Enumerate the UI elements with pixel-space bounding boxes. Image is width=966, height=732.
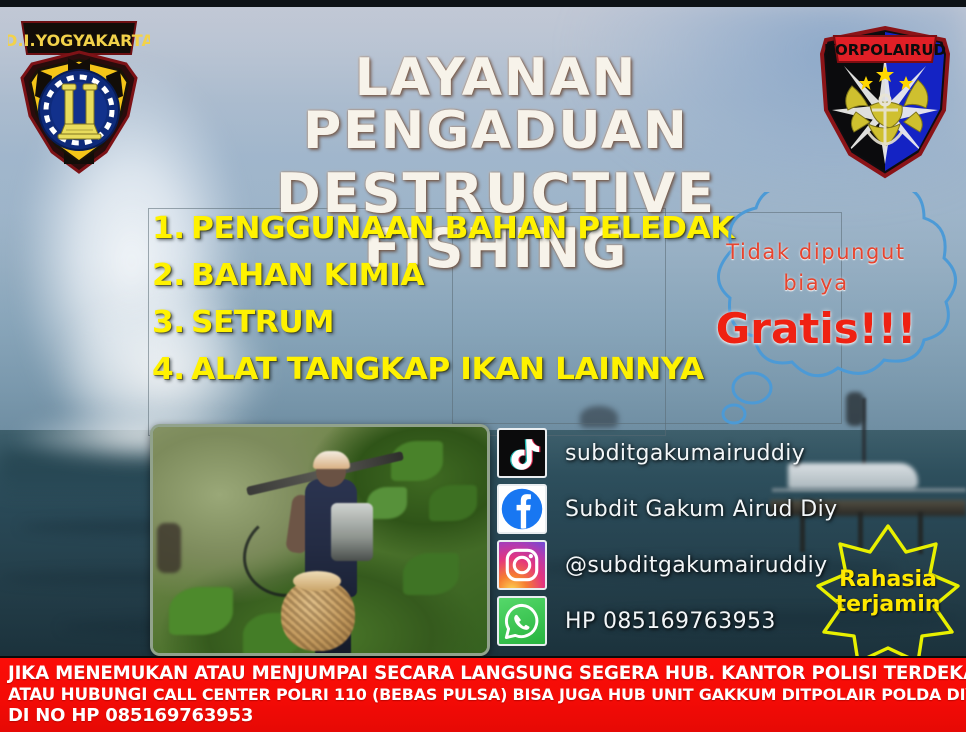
- facebook-icon[interactable]: [497, 484, 547, 534]
- electrofishing-photo: [150, 424, 490, 656]
- tiktok-icon[interactable]: [497, 428, 547, 478]
- emergency-contact-banner: JIKA MENEMUKAN ATAU MENJUMPAI SECARA LAN…: [0, 656, 966, 732]
- whatsapp-phone: HP 085169763953: [565, 609, 776, 634]
- cloud-line-1: Tidak dipungut: [726, 237, 905, 267]
- banner-line-2-prefix: ATAU HUBUNGI: [8, 685, 153, 705]
- top-edge-strip: [0, 0, 966, 7]
- photo-second-person: [157, 523, 181, 573]
- instagram-handle: @subditgakumairuddiy: [565, 553, 828, 578]
- violations-list: 1.PENGGUNAAN BAHAN PELEDAK 2.BAHAN KIMIA…: [152, 214, 672, 402]
- violation-label-2: BAHAN KIMIA: [191, 258, 424, 293]
- cloud-text-block: Tidak dipungut biaya Gratis!!!: [664, 192, 966, 392]
- diy-logo-banner-text: D.I.YOGYAKARTA: [8, 31, 150, 50]
- photo-backpack-generator: [331, 503, 373, 561]
- violation-item-3: 3.SETRUM: [152, 308, 693, 338]
- violation-number-1: 1.: [152, 211, 185, 246]
- facebook-handle: Subdit Gakum Airud Diy: [565, 497, 838, 522]
- violation-number-2: 2.: [152, 258, 185, 293]
- poster-root: D.I.YOGYAKARTA: [0, 0, 966, 732]
- violation-item-4: 4.ALAT TANGKAP IKAN LAINNYA: [152, 355, 693, 385]
- violation-label-4: ALAT TANGKAP IKAN LAINNYA: [191, 352, 704, 387]
- cloud-line-2: biaya: [783, 268, 848, 298]
- banner-line-2-rest: CALL CENTER POLRI 110 (BEBAS PULSA) BISA…: [153, 685, 966, 704]
- cloud-gratis-text: Gratis!!!: [716, 304, 916, 353]
- diy-police-logo: D.I.YOGYAKARTA: [8, 12, 150, 180]
- violation-item-1: 1.PENGGUNAAN BAHAN PELEDAK: [152, 214, 693, 244]
- confidentiality-badge: Rahasia terjamin: [812, 522, 964, 664]
- instagram-icon[interactable]: [497, 540, 547, 590]
- social-row-tiktok[interactable]: subditgakumairuddiy: [497, 428, 917, 478]
- photo-foliage: [169, 587, 233, 635]
- free-of-charge-cloud: Tidak dipungut biaya Gratis!!!: [664, 192, 966, 432]
- photo-man-cap: [313, 451, 350, 469]
- banner-line-2: ATAU HUBUNGI CALL CENTER POLRI 110 (BEBA…: [8, 685, 944, 705]
- banner-line-3: DI NO HP 085169763953: [8, 705, 958, 726]
- violation-number-4: 4.: [152, 352, 185, 387]
- photo-foliage: [403, 553, 459, 595]
- violation-label-3: SETRUM: [191, 305, 334, 340]
- whatsapp-icon[interactable]: [497, 596, 547, 646]
- photo-fish-basket-lid: [293, 571, 341, 591]
- violation-number-3: 3.: [152, 305, 185, 340]
- tiktok-handle: subditgakumairuddiy: [565, 441, 805, 466]
- violation-item-2: 2.BAHAN KIMIA: [152, 261, 693, 291]
- starburst-icon: [812, 522, 964, 664]
- banner-line-1: JIKA MENEMUKAN ATAU MENJUMPAI SECARA LAN…: [8, 663, 944, 685]
- photo-foliage: [429, 485, 477, 521]
- violation-label-1: PENGGUNAAN BAHAN PELEDAK: [191, 211, 734, 246]
- korpolairud-logo-banner-text: KORPOLAIRUD: [824, 41, 946, 59]
- photo-foliage: [367, 487, 407, 519]
- title-line-1: LAYANAN PENGADUAN: [176, 52, 816, 158]
- korpolairud-logo: KORPOLAIRUD: [812, 14, 958, 184]
